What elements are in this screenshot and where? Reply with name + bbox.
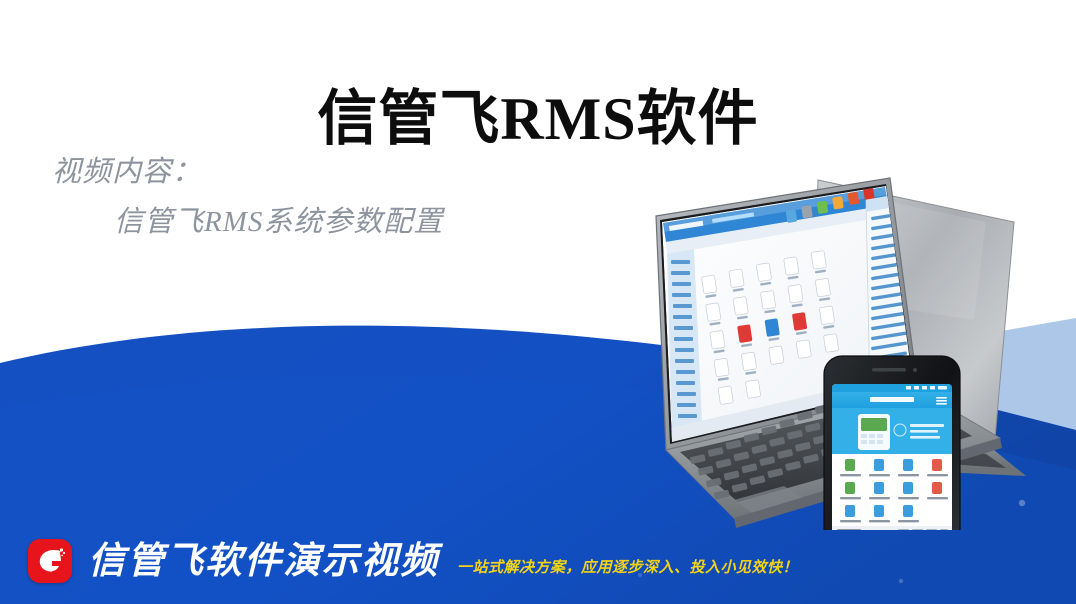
slide-canvas: 信管飞RMS软件 视频内容： 信管飞RMS系统参数配置 信管飞软件演示视频 一站… [0, 0, 1076, 604]
device-photo-cluster [466, 170, 1076, 530]
phone-screen-content [832, 384, 952, 530]
phone-front-camera-icon [913, 368, 917, 372]
video-content-topic: 信管飞RMS系统参数配置 [114, 202, 443, 242]
xinguanfei-bird-logo-icon [28, 539, 72, 583]
brand-tagline: 一站式解决方案，应用逐步深入、投入小见效快！ [457, 556, 798, 577]
devices-svg [466, 170, 1076, 530]
phone-earpiece [872, 368, 906, 372]
video-content-label: 视频内容： [52, 152, 443, 192]
smartphone [824, 356, 960, 530]
logo-mark-svg [28, 539, 72, 583]
video-content-block: 视频内容： 信管飞RMS系统参数配置 [52, 152, 443, 242]
brand-name: 信管飞软件演示视频 [88, 539, 439, 583]
hamburger-icon[interactable] [936, 397, 947, 405]
page-title: 信管飞RMS软件 [0, 82, 1076, 156]
brand-banner: 信管飞软件演示视频 一站式解决方案，应用逐步深入、投入小见效快！ [0, 518, 1076, 604]
